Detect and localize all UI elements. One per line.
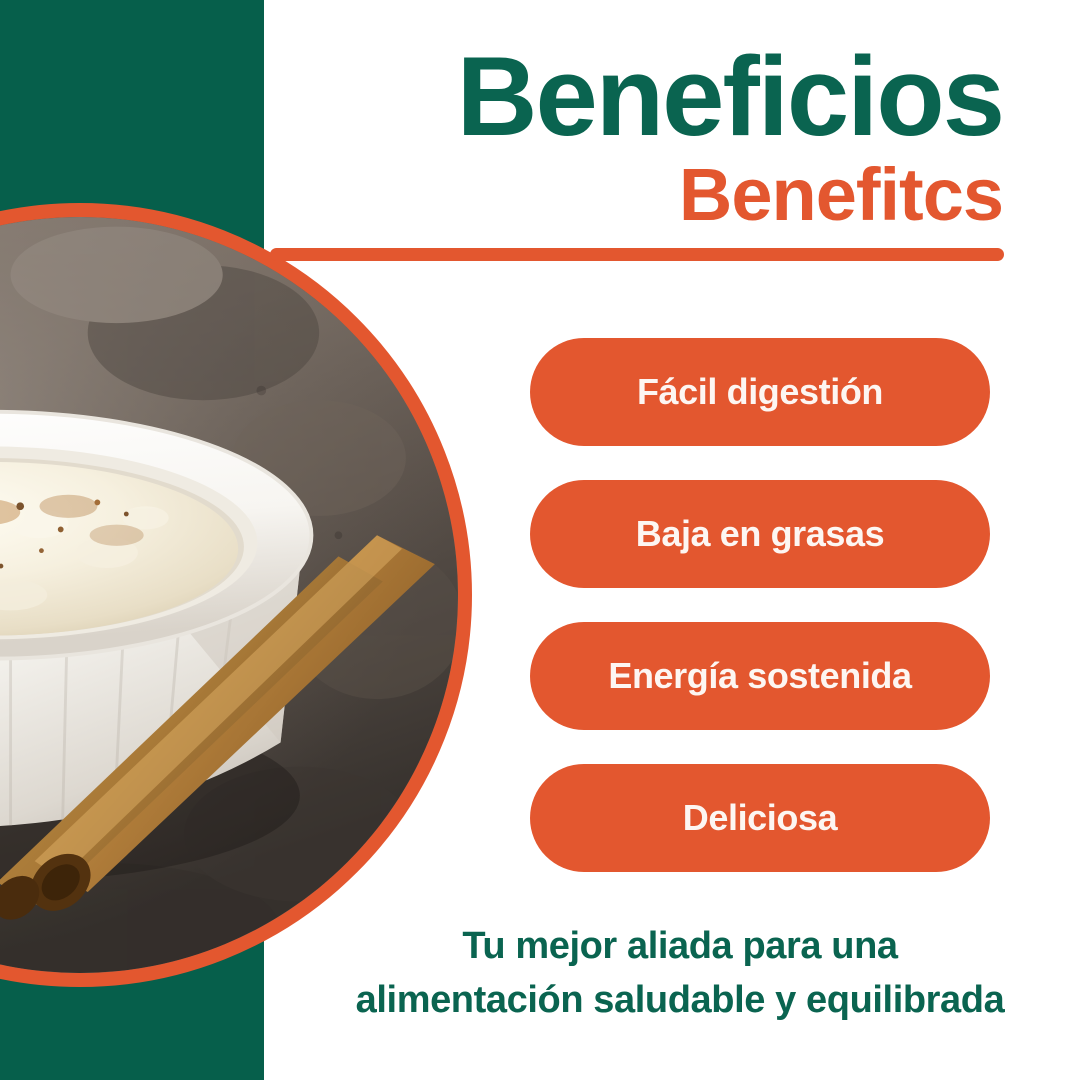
benefit-pill-energia-sostenida[interactable]: Energía sostenida (530, 622, 990, 730)
benefit-pill-baja-en-grasas[interactable]: Baja en grasas (530, 480, 990, 588)
benefit-pill-label: Baja en grasas (636, 513, 885, 555)
page-title: Beneficios (264, 40, 1004, 154)
page-subtitle: Benefitcs (264, 158, 1004, 232)
title-underline-rule (270, 248, 1004, 261)
benefits-list: Fácil digestión Baja en grasas Energía s… (530, 338, 990, 872)
tagline: Tu mejor aliada para una alimentación sa… (290, 920, 1070, 1028)
benefit-pill-label: Fácil digestión (637, 371, 883, 413)
heading-block: Beneficios Benefitcs (264, 40, 1004, 261)
tagline-line-2: alimentación saludable y equilibrada (290, 974, 1070, 1028)
product-photo (0, 217, 458, 973)
rice-pudding-photo-illustration (0, 217, 458, 973)
benefit-pill-deliciosa[interactable]: Deliciosa (530, 764, 990, 872)
benefit-pill-label: Energía sostenida (608, 655, 911, 697)
benefit-pill-facil-digestion[interactable]: Fácil digestión (530, 338, 990, 446)
benefit-pill-label: Deliciosa (683, 797, 837, 839)
product-photo-circle (0, 203, 472, 987)
tagline-line-1: Tu mejor aliada para una (290, 920, 1070, 974)
